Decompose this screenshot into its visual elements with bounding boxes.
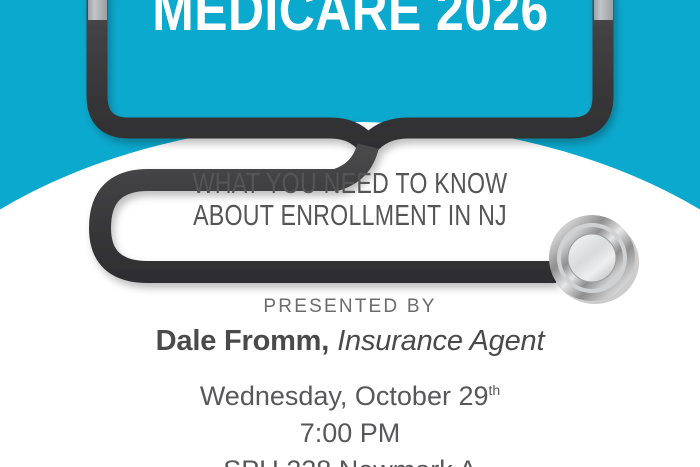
event-details: Wednesday, October 29th 7:00 PM SPU 228 …	[0, 378, 700, 467]
presented-by-label: PRESENTED BY	[0, 296, 700, 318]
presenter-role: Insurance Agent	[337, 325, 544, 357]
event-date: Wednesday, October 29th	[0, 378, 700, 415]
event-date-text: Wednesday, October 29	[200, 381, 489, 411]
subtitle-line-1: WHAT YOU NEED TO KNOW	[70, 168, 630, 200]
date-ordinal-suffix: th	[488, 382, 500, 398]
presenter-line: Dale Fromm, Insurance Agent	[0, 325, 700, 358]
poster-title-container: MEDICARE 2026	[0, 0, 700, 40]
medicare-seminar-poster: MEDICARE 2026 WHAT YOU NEED TO KNOW ABOU…	[0, 0, 700, 467]
page-title: MEDICARE 2026	[152, 0, 548, 40]
event-time: 7:00 PM	[0, 415, 700, 452]
poster-subtitle: WHAT YOU NEED TO KNOW ABOUT ENROLLMENT I…	[0, 168, 700, 232]
presenter-name: Dale Fromm,	[156, 325, 329, 357]
event-location: SPU 228 Newmark A	[0, 452, 700, 467]
subtitle-line-2: ABOUT ENROLLMENT IN NJ	[70, 200, 630, 232]
